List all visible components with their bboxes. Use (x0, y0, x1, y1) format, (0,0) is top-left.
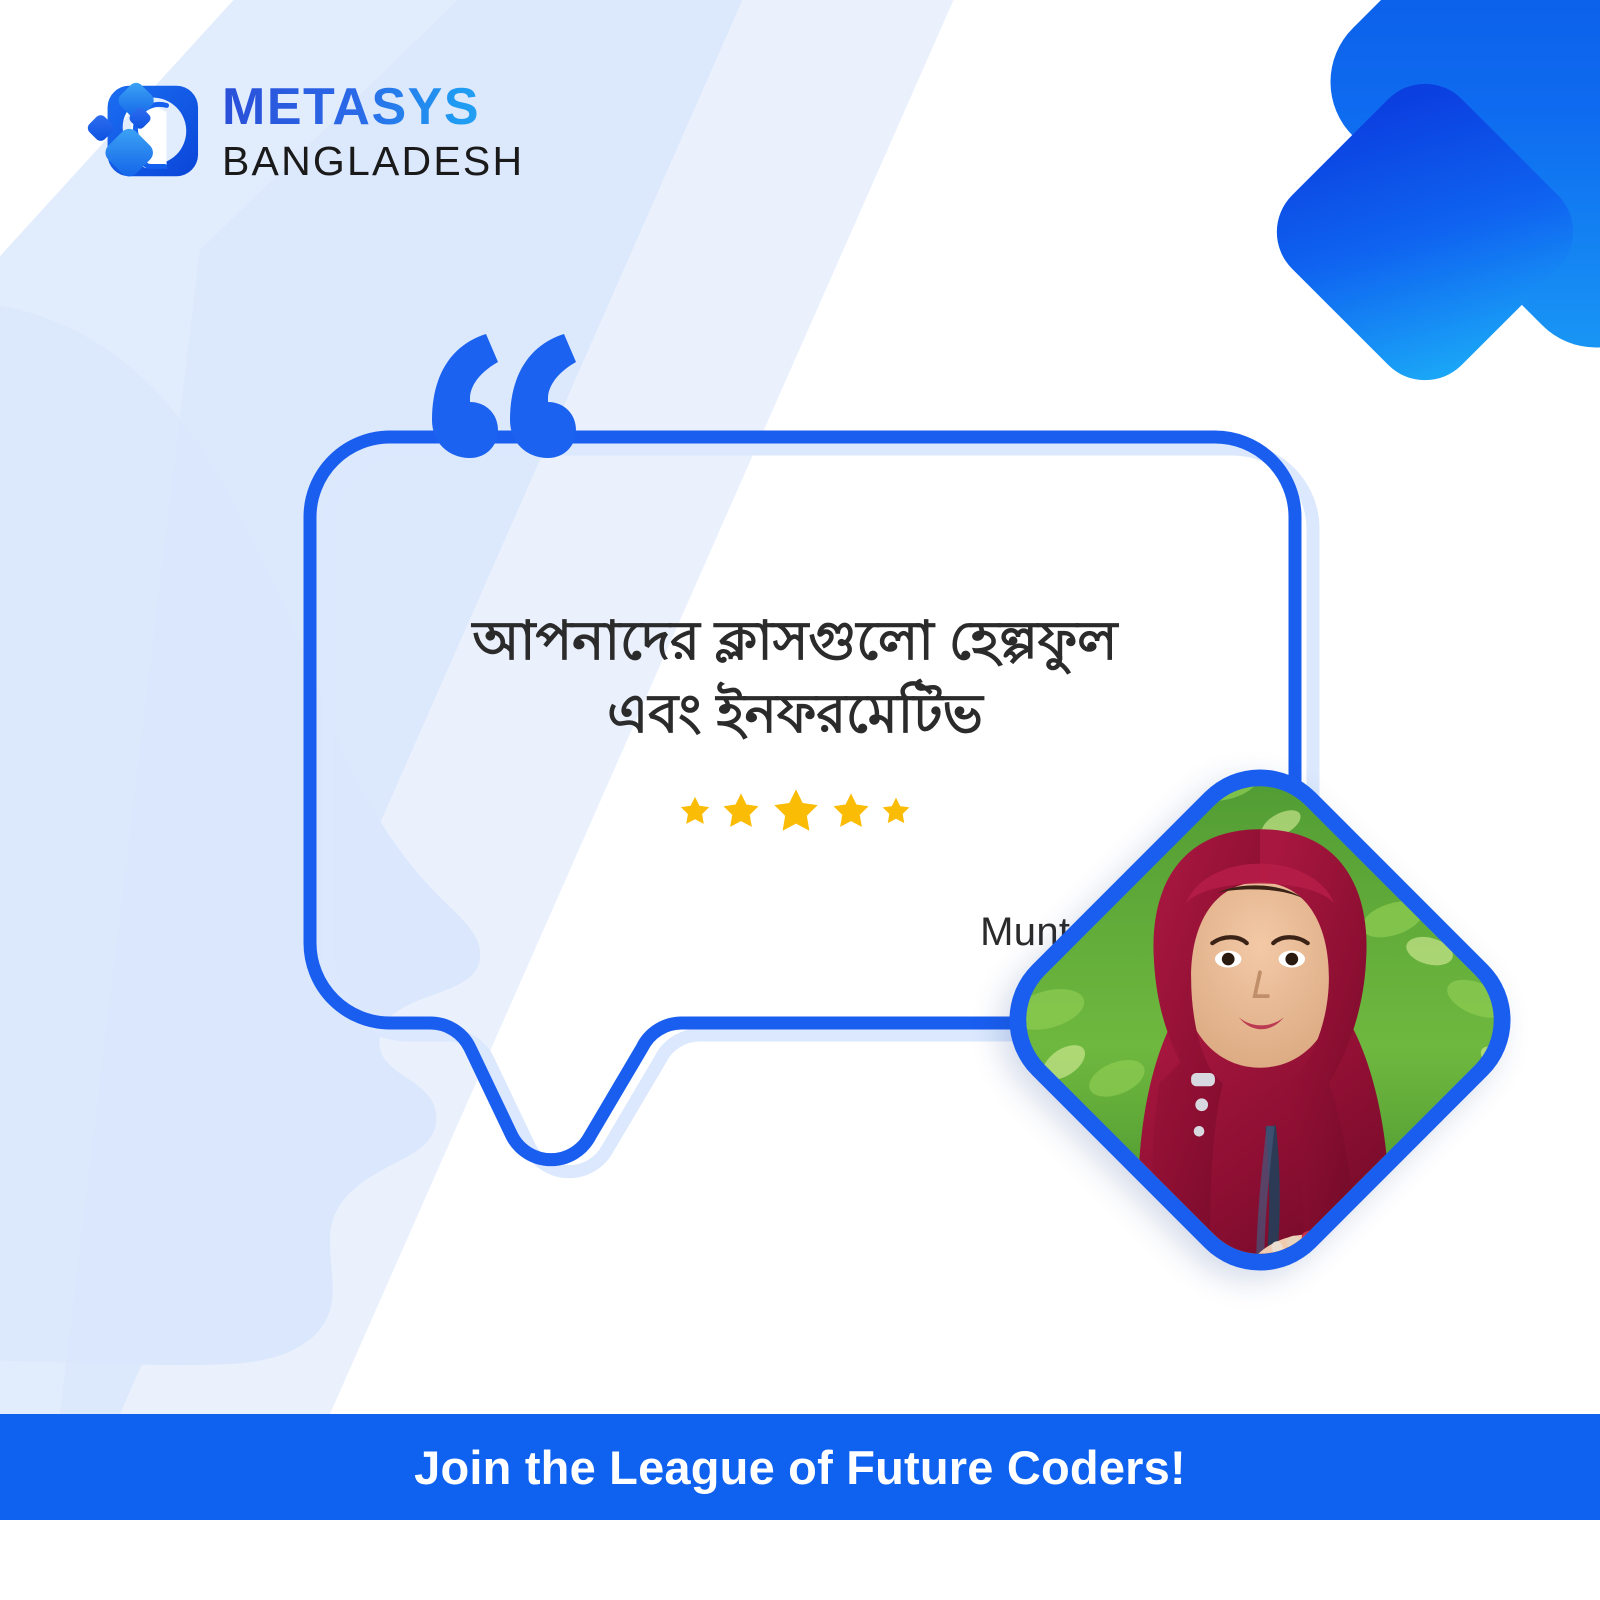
rating-stars (678, 785, 912, 837)
star-icon (720, 790, 762, 832)
rotated-rounded-square-small (1255, 62, 1594, 401)
testimonial-poster: METASYS BANGLADESH আপনাদের ক্লাসগুলো হেল… (0, 0, 1600, 1600)
brand-name-secondary: BANGLADESH (222, 141, 524, 182)
metasys-head-logo-icon (82, 72, 200, 190)
quote-line-1: আপনাদের ক্লাসগুলো হেল্পফুল (473, 611, 1118, 671)
quote-line-2: এবং ইনফরমেটিভ (607, 684, 983, 744)
banner-text: Join the League of Future Coders! (414, 1440, 1186, 1495)
brand-logo[interactable]: METASYS BANGLADESH (82, 72, 524, 190)
quote-text: আপনাদের ক্লাসগুলো হেল্পফুল এবং ইনফরমেটিভ (405, 605, 1185, 751)
star-icon (678, 794, 712, 828)
avatar (1060, 820, 1460, 1220)
star-icon (830, 790, 872, 832)
rotated-rounded-square-large (1299, 0, 1600, 379)
brand-name-primary: METASYS (222, 81, 524, 133)
bottom-banner: Join the League of Future Coders! (0, 1414, 1600, 1520)
star-icon (770, 785, 822, 837)
avatar-photo (1000, 760, 1520, 1280)
brand-wordmark: METASYS BANGLADESH (222, 81, 524, 182)
star-icon (880, 795, 912, 827)
